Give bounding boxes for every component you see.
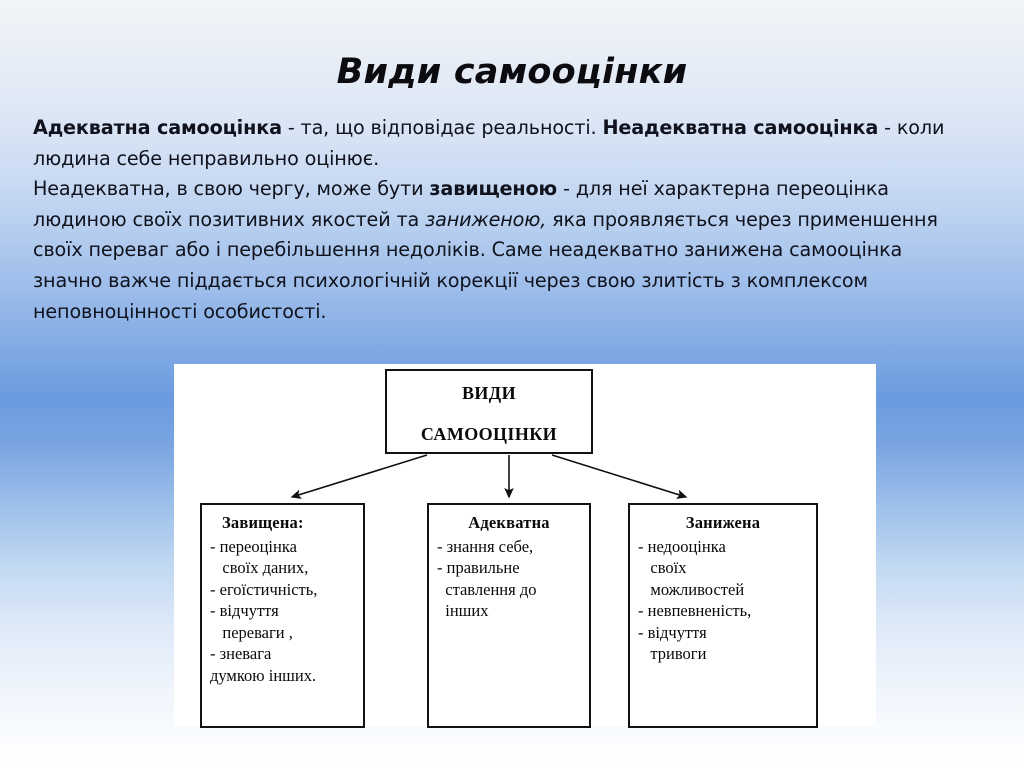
node-adequate-title: Адекватна <box>437 512 581 534</box>
node-low-title: Занижена <box>638 512 808 534</box>
root-node-line-1: ВИДИ <box>387 382 591 404</box>
list-item: - відчуття переваги , <box>210 600 355 643</box>
paragraph-2: Неадекватна, в свою чергу, може бути зав… <box>33 174 963 327</box>
page-title: Види самооцінки <box>0 52 1024 92</box>
list-item: - відчуття тривоги <box>638 622 808 665</box>
diagram-panel: ВИДИ САМООЦІНКИ Завищена: - переоцінка с… <box>174 364 876 726</box>
node-high-list: - переоцінка своїх даних, - егоїстичніст… <box>210 536 355 687</box>
paragraph-1: Адекватна самооцінка - та, що відповідає… <box>33 113 963 174</box>
list-item: - зневага думкою інших. <box>210 643 355 686</box>
root-node-line-2: САМООЦІНКИ <box>387 423 591 445</box>
connector-root-to-high <box>292 455 427 497</box>
node-high-title: Завищена: <box>210 512 355 534</box>
paragraph-1-bold-term-1: Адекватна самооцінка <box>33 116 282 139</box>
diagram-node-high-self-esteem[interactable]: Завищена: - переоцінка своїх даних, - ег… <box>200 503 365 728</box>
list-item: - невпевненість, <box>638 600 808 622</box>
connector-root-to-low <box>552 455 686 497</box>
node-low-list: - недооцінка своїх можливостей - невпевн… <box>638 536 808 665</box>
list-item: - переоцінка своїх даних, <box>210 536 355 579</box>
list-item: - недооцінка своїх можливостей <box>638 536 808 601</box>
paragraph-1-text-1: - та, що відповідає реальності. <box>282 116 603 139</box>
paragraph-2-text-1: Неадекватна, в свою чергу, може бути <box>33 177 429 200</box>
list-item: - знання себе, <box>437 536 581 558</box>
paragraph-1-bold-term-2: Неадекватна самооцінка <box>602 116 878 139</box>
list-item: - егоїстичність, <box>210 579 355 601</box>
slide-canvas: Види самооцінки Адекватна самооцінка - т… <box>0 0 1024 767</box>
list-item: - правильне ставлення до інших <box>437 557 581 622</box>
diagram-node-adequate-self-esteem[interactable]: Адекватна - знання себе, - правильне ста… <box>427 503 591 728</box>
body-text-block: Адекватна самооцінка - та, що відповідає… <box>33 113 963 327</box>
paragraph-2-italic-term-1: заниженою, <box>425 208 546 231</box>
node-adequate-list: - знання себе, - правильне ставлення до … <box>437 536 581 622</box>
paragraph-2-bold-term-1: завищеною <box>429 177 557 200</box>
diagram-root-node[interactable]: ВИДИ САМООЦІНКИ <box>385 369 593 454</box>
diagram-node-low-self-esteem[interactable]: Занижена - недооцінка своїх можливостей … <box>628 503 818 728</box>
